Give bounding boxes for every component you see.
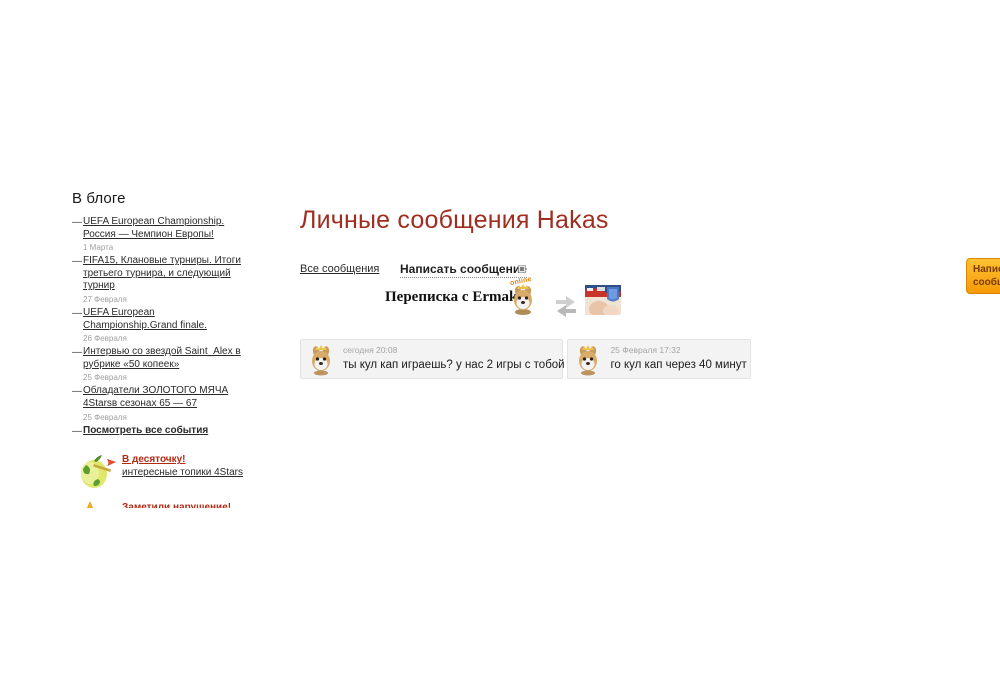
dash-icon: — [72, 307, 82, 320]
tab-write-message[interactable]: Написать сообщение [400, 262, 527, 278]
message-list: сегодня 20:08 ты кул кап играешь? у нас … [300, 339, 940, 388]
blog-event-date: 25 Февраля [72, 372, 248, 384]
floating-write-message-tab[interactable]: Написать сообщение [966, 258, 1000, 294]
message-tabs: Все сообщения Написать сообщение [300, 263, 940, 281]
blog-events-list: — UEFA European Championship. Россия — Ч… [72, 216, 248, 437]
blog-sidebar: В блоге — UEFA European Championship. Ро… [72, 190, 248, 508]
dog-avatar[interactable] [508, 283, 538, 317]
sidebar-item-see-all-events[interactable]: — Посмотреть все события [72, 425, 248, 438]
promo-subtitle-link[interactable]: интересные топики 4Stars [122, 466, 248, 479]
list-item[interactable]: — UEFA European Championship.Grand final… [72, 307, 248, 332]
photo-avatar[interactable] [585, 285, 621, 315]
blog-event-link[interactable]: Обладатели ЗОЛОТОГО МЯЧА 4Starsв сезонах… [83, 385, 248, 410]
apple-dart-icon [76, 451, 118, 491]
promo-title-link[interactable]: В десяточку! [122, 453, 248, 466]
page-title: Личные сообщения Hakas [300, 205, 940, 235]
star-icon [80, 501, 100, 508]
dash-icon: — [72, 425, 82, 438]
message-text: го кул кап через 40 минут [610, 358, 740, 372]
blog-event-link[interactable]: Интервью со звездой Saint_Alex в рубрике… [83, 346, 248, 371]
blog-event-date: 1 Марта [72, 242, 248, 254]
list-item[interactable]: — Интервью со звездой Saint_Alex в рубри… [72, 346, 248, 371]
dialog-title: Переписка с Ermak [385, 289, 517, 306]
floating-tab-line2: сообщение [973, 276, 1000, 289]
dog-avatar [306, 344, 336, 376]
dash-icon: — [72, 255, 82, 268]
message-timestamp: сегодня 20:08 [343, 345, 552, 356]
see-all-events-link[interactable]: Посмотреть все события [83, 425, 248, 438]
page-root: В блоге — UEFA European Championship. Ро… [0, 0, 1000, 700]
dash-icon: — [72, 385, 82, 398]
promo-block-v-desyatochku[interactable]: В десяточку! интересные топики 4Stars [72, 453, 248, 487]
dash-icon: — [72, 346, 82, 359]
floating-tab-inner[interactable]: Написать сообщение [966, 258, 1000, 294]
blog-event-date: 26 Февраля [72, 333, 248, 345]
promo-block-violation[interactable]: Заметили нарушение! [72, 501, 248, 508]
tab-all-messages[interactable]: Все сообщения [300, 263, 379, 275]
list-item[interactable]: — FIFA15, Клановые турниры. Итоги третье… [72, 255, 248, 293]
message-item[interactable]: сегодня 20:08 ты кул кап играешь? у нас … [300, 339, 563, 379]
blog-event-link[interactable]: UEFA European Championship.Grand finale. [83, 307, 248, 332]
exchange-arrows-icon [552, 289, 580, 319]
list-item[interactable]: — Обладатели ЗОЛОТОГО МЯЧА 4Starsв сезон… [72, 385, 248, 410]
message-timestamp: 25 Февраля 17:32 [610, 345, 740, 356]
message-text: ты кул кап играешь? у нас 2 игры с тобой [343, 358, 552, 372]
blog-event-date: 27 Февраля [72, 294, 248, 306]
sidebar-title: В блоге [72, 190, 248, 207]
promo-title-link[interactable]: Заметили нарушение! [122, 501, 248, 508]
compose-icon[interactable] [518, 265, 526, 273]
blog-event-link[interactable]: UEFA European Championship. Россия — Чем… [83, 216, 248, 241]
list-item[interactable]: — UEFA European Championship. Россия — Ч… [72, 216, 248, 241]
message-item[interactable]: 25 Февраля 17:32 го кул кап через 40 мин… [567, 339, 751, 379]
dialog-header: Переписка с Ermak online [300, 287, 940, 327]
blog-event-date: 25 Февраля [72, 412, 248, 424]
floating-tab-line1: Написать [973, 263, 1000, 276]
dog-avatar [573, 344, 603, 376]
dash-icon: — [72, 216, 82, 229]
personal-messages-main: Личные сообщения Hakas Все сообщения Нап… [300, 205, 940, 388]
blog-event-link[interactable]: FIFA15, Клановые турниры. Итоги третьего… [83, 255, 248, 293]
